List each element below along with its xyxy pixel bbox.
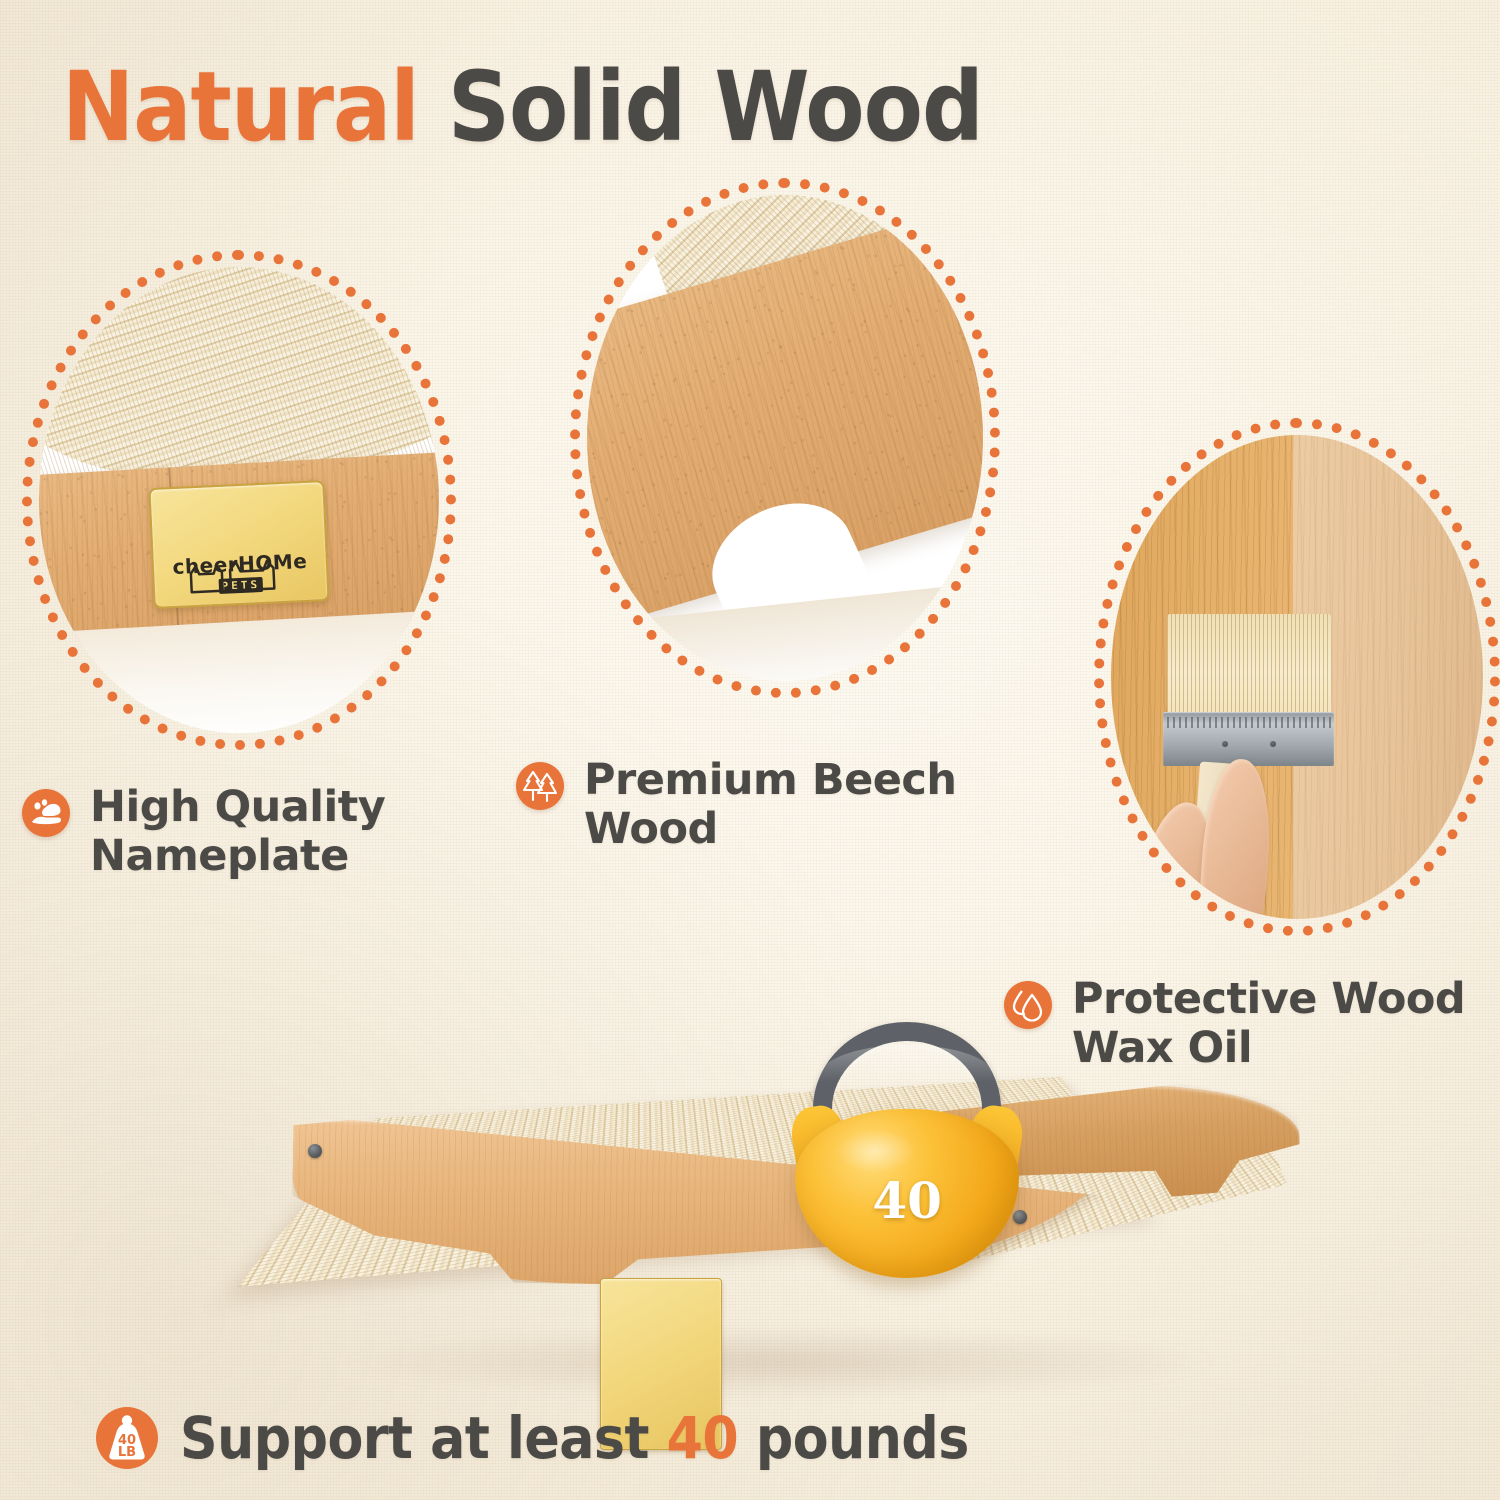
- kettlebell: 40: [780, 1022, 1034, 1278]
- page-title-accent: Natural: [62, 51, 448, 163]
- brand-nameplate: cheerHOMe PETS: [148, 480, 329, 609]
- svg-text:LB: LB: [118, 1445, 136, 1460]
- pine-trees-icon: [516, 762, 564, 810]
- photo-clip-beech: [587, 195, 983, 681]
- finger-middle: [1195, 757, 1275, 919]
- support-weight-caption: 40 LB Support at least 40 pounds: [96, 1404, 969, 1472]
- feature-label-line2: Wood: [584, 804, 718, 854]
- page-title: Natural Solid Wood: [62, 57, 983, 158]
- feature-photo-beech: [570, 178, 1000, 698]
- page-title-main: Solid Wood: [448, 51, 983, 163]
- product-shadow: [335, 1326, 1225, 1398]
- human-hand: [1126, 754, 1379, 919]
- kettlebell-weight-value: 40: [795, 1109, 1019, 1278]
- hero-product-photo: cheerHOMe PETS 40: [250, 1030, 1310, 1430]
- cat-paw-plaque-icon: [22, 789, 70, 837]
- photo-clip-wax: [1111, 435, 1483, 919]
- kettlebell-body: 40: [795, 1109, 1019, 1278]
- photo-clip-nameplate: cheerHOMe PETS: [39, 267, 439, 733]
- brush-bristles: [1167, 614, 1331, 715]
- feature-label-line1: Protective Wood: [1072, 974, 1465, 1024]
- feature-photo-nameplate: cheerHOMe PETS: [22, 250, 456, 750]
- feature-label-line1: High Quality: [90, 782, 385, 832]
- feature-photo-wax-oil: [1094, 418, 1500, 936]
- caption-after: pounds: [738, 1404, 969, 1472]
- feature-label-line2: Nameplate: [90, 831, 349, 881]
- caption-number: 40: [667, 1404, 739, 1472]
- sisal-mat-texture: [39, 267, 439, 481]
- feature-label-line1: Premium Beech: [584, 755, 957, 805]
- weight-40lb-icon: 40 LB: [96, 1407, 158, 1469]
- feature-label-nameplate: High Quality Nameplate: [22, 783, 452, 881]
- feature-label-text: High Quality Nameplate: [90, 783, 385, 881]
- feature-label-beech: Premium Beech Wood: [516, 756, 1016, 854]
- ferrule-crimp: [1167, 717, 1331, 729]
- feature-label-text: Premium Beech Wood: [584, 756, 957, 854]
- ferrule-rivets: [1163, 741, 1334, 747]
- cat-silhouette-engraving: [167, 555, 313, 597]
- support-weight-text: Support at least 40 pounds: [180, 1404, 969, 1472]
- caption-before: Support at least: [180, 1404, 667, 1472]
